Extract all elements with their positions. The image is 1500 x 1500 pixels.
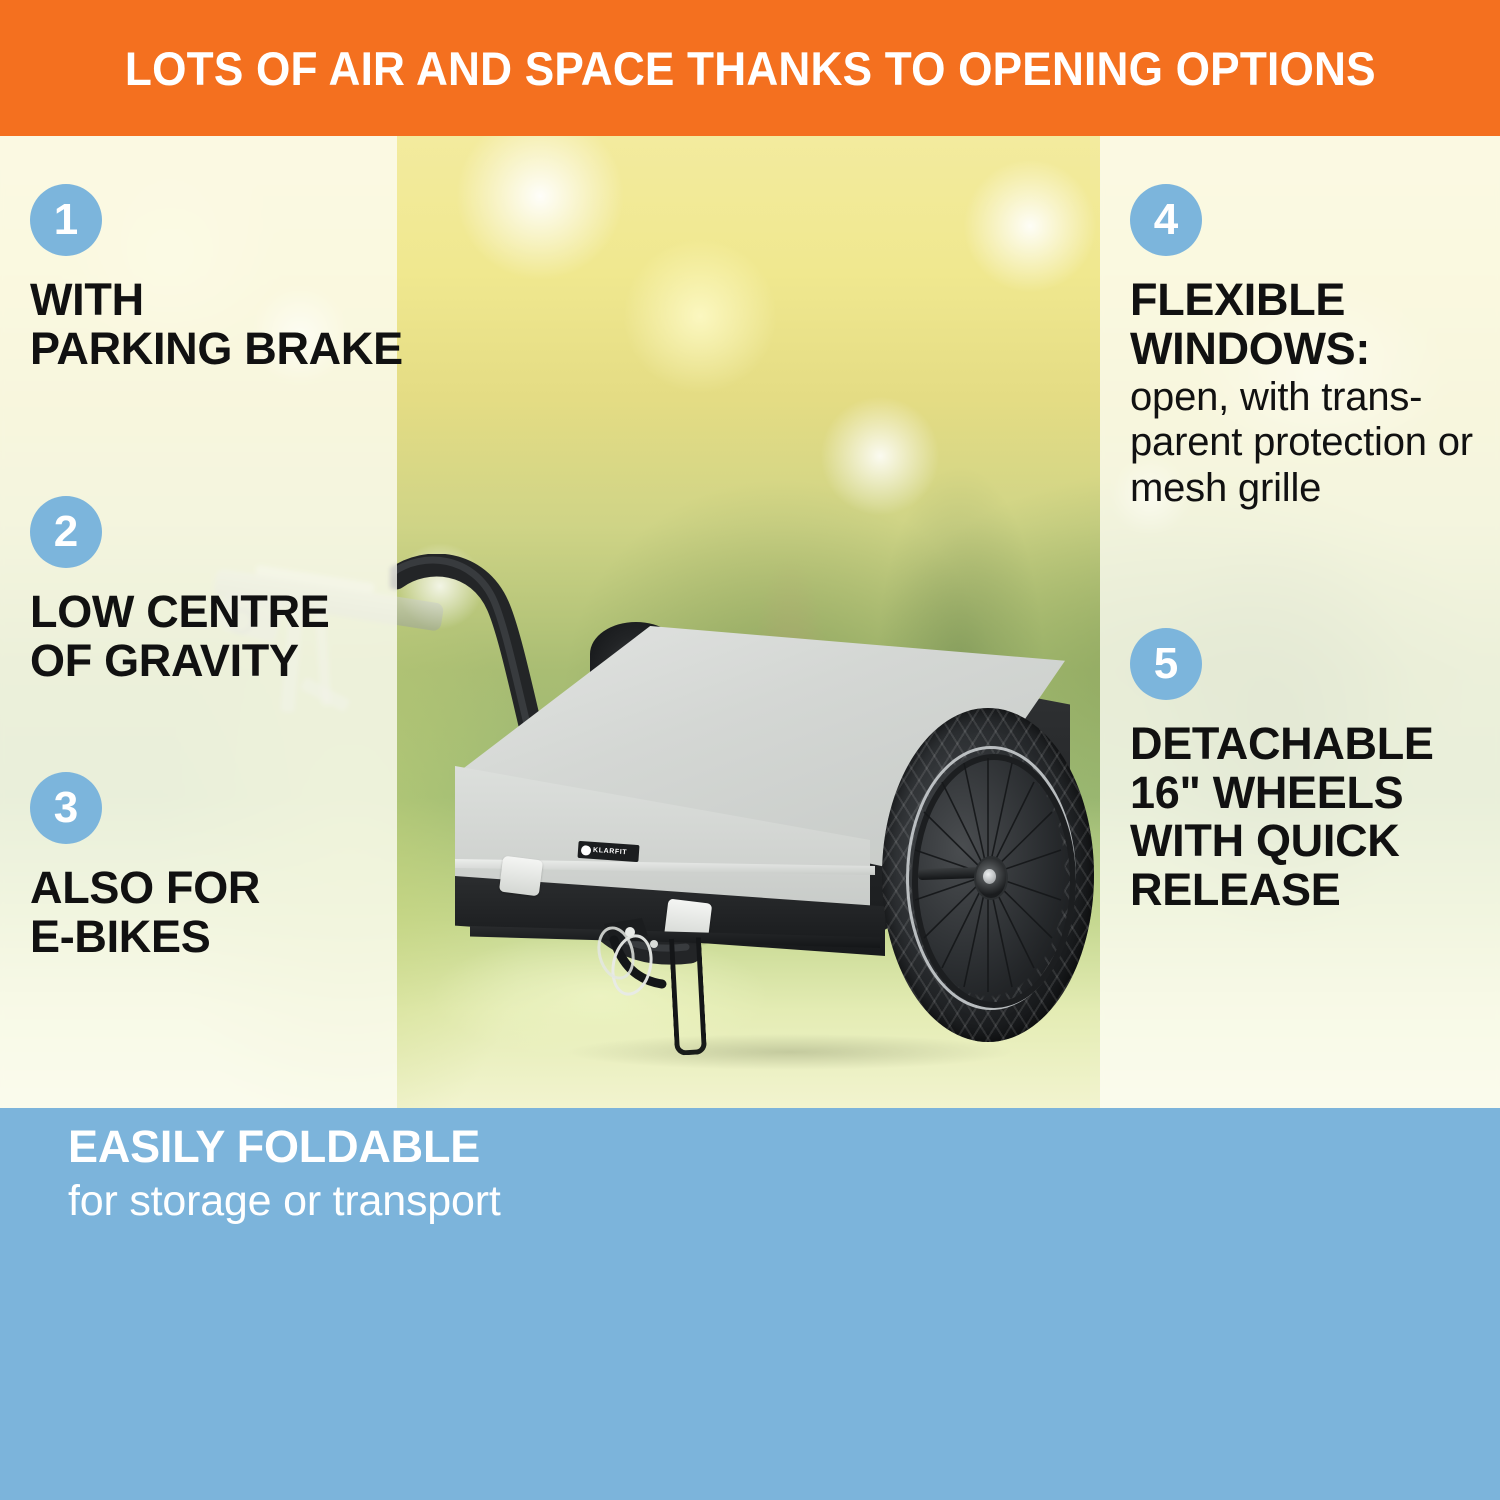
feature-2-heading: LOW CENTRE OF GRAVITY (30, 588, 329, 685)
page-title: LOTS OF AIR AND SPACE THANKS TO OPENING … (125, 45, 1376, 92)
reflector-front (499, 856, 543, 897)
badge-number-1: 1 (30, 184, 102, 256)
footer-subline: for storage or transport (68, 1178, 501, 1225)
feature-4-heading: FLEXIBLE WINDOWS: (1130, 276, 1473, 373)
badge-number-3: 3 (30, 772, 102, 844)
badge-number-4: 4 (1130, 184, 1202, 256)
feature-callout-1: 1 WITH PARKING BRAKE (30, 184, 403, 373)
feature-1-heading: WITH PARKING BRAKE (30, 276, 403, 373)
feature-callout-2: 2 LOW CENTRE OF GRAVITY (30, 496, 329, 685)
klarfit-logo-icon (581, 845, 592, 856)
brand-tag-label: KLARFIT (593, 847, 628, 856)
badge-number-5: 5 (1130, 628, 1202, 700)
feature-callout-4: 4 FLEXIBLE WINDOWS: open, with trans- pa… (1130, 184, 1473, 511)
feature-3-heading: ALSO FOR E-BIKES (30, 864, 260, 961)
infographic-page: LOTS OF AIR AND SPACE THANKS TO OPENING … (0, 0, 1500, 1500)
quick-release-nut (983, 869, 996, 884)
feature-callout-3: 3 ALSO FOR E-BIKES (30, 772, 260, 961)
feature-4-subtext: open, with trans- parent protection or m… (1130, 375, 1473, 511)
feature-callout-5: 5 DETACHABLE 16" WHEELS WITH QUICK RELEA… (1130, 628, 1434, 914)
ground-shadow (470, 1026, 1110, 1078)
badge-number-2: 2 (30, 496, 102, 568)
header-banner: LOTS OF AIR AND SPACE THANKS TO OPENING … (0, 0, 1500, 136)
footer-headline: EASILY FOLDABLE (68, 1122, 480, 1172)
feature-5-heading: DETACHABLE 16" WHEELS WITH QUICK RELEASE (1130, 720, 1434, 914)
rear-wheel-16-inch (882, 708, 1094, 1042)
